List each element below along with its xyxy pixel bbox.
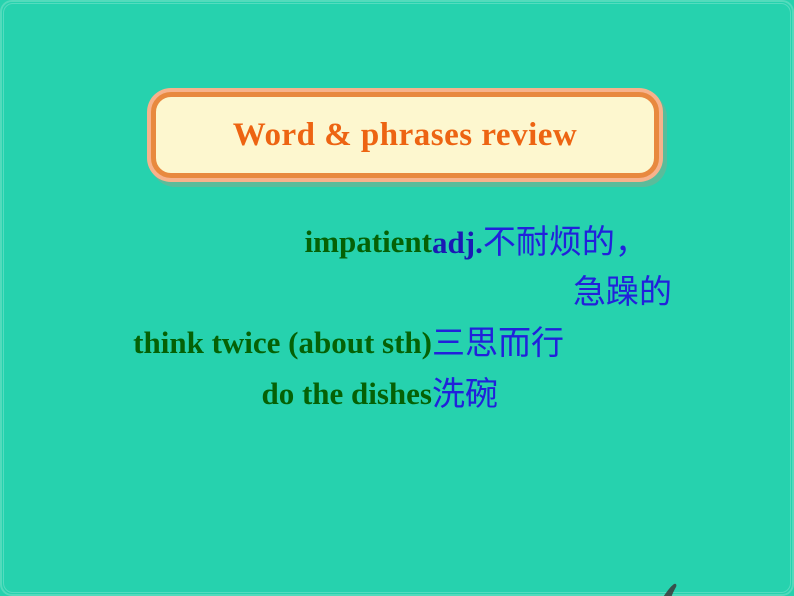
- vocab-meaning: adj.不耐烦的， 急躁的: [432, 216, 794, 317]
- vocab-translation: 不耐烦的，: [483, 223, 648, 260]
- vocab-term: think twice (about sth): [0, 317, 432, 368]
- vocab-meaning: 洗碗: [432, 368, 794, 419]
- vocabulary-table: impatient adj.不耐烦的， 急躁的 think twice (abo…: [0, 216, 794, 419]
- table-row: impatient adj.不耐烦的， 急躁的: [0, 216, 794, 317]
- vocab-meaning: 三思而行: [432, 317, 794, 368]
- vocab-term: do the dishes: [0, 368, 432, 419]
- vocabulary-list: impatient adj.不耐烦的， 急躁的 think twice (abo…: [0, 216, 794, 419]
- title-banner: Word & phrases review: [151, 92, 659, 178]
- corner-decoration-icon: [644, 576, 706, 596]
- table-row: do the dishes 洗碗: [0, 368, 794, 419]
- vocab-translation: 洗碗: [432, 375, 498, 412]
- part-of-speech: adj.: [432, 225, 483, 260]
- vocab-term: impatient: [0, 216, 432, 317]
- page-title: Word & phrases review: [233, 119, 577, 152]
- vocab-translation-line2: 急躁的: [432, 266, 672, 317]
- slide-canvas: Word & phrases review impatient adj.不耐烦的…: [0, 0, 794, 596]
- vocab-translation: 三思而行: [432, 324, 564, 361]
- table-row: think twice (about sth) 三思而行: [0, 317, 794, 368]
